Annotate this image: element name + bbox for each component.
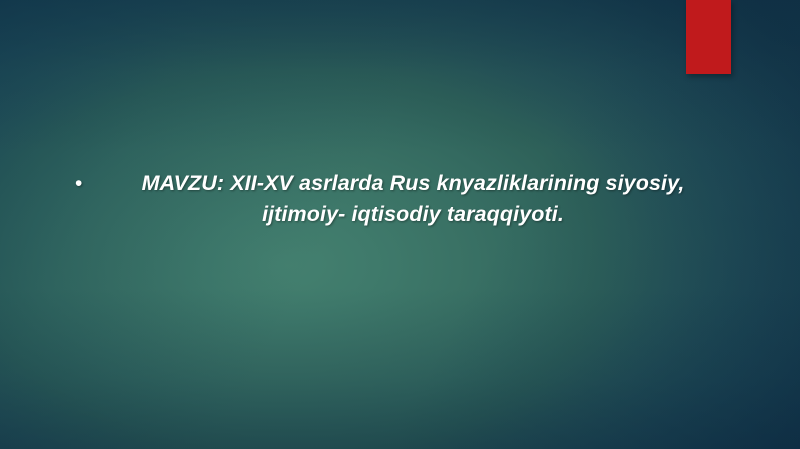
red-accent-bar	[686, 0, 731, 74]
bullet-point-icon: •	[66, 168, 92, 199]
slide-body-placeholder[interactable]: • MAVZU: XII-XV asrlarda Rus knyazliklar…	[66, 168, 734, 230]
presentation-slide: • MAVZU: XII-XV asrlarda Rus knyazliklar…	[0, 0, 800, 449]
slide-body-text: MAVZU: XII-XV asrlarda Rus knyazliklarin…	[92, 168, 734, 230]
bullet-list-item[interactable]: • MAVZU: XII-XV asrlarda Rus knyazliklar…	[66, 168, 734, 230]
